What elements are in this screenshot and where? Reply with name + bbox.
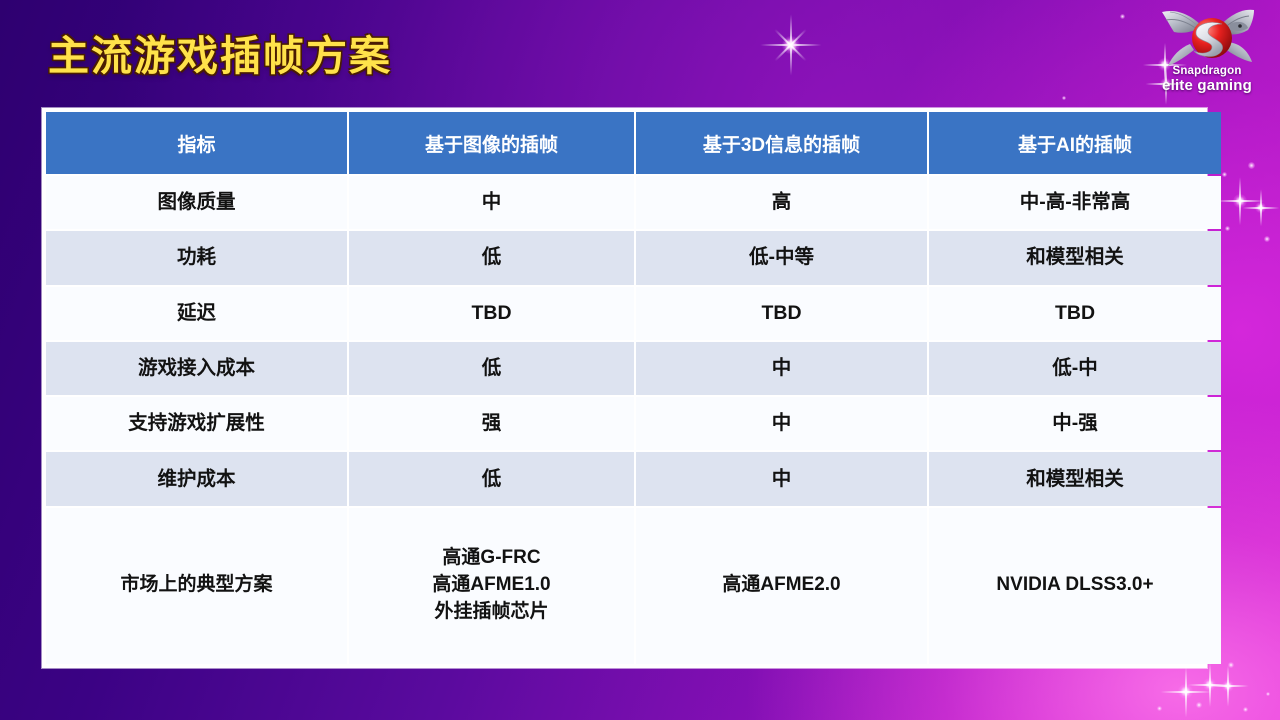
sparkle-icon: [782, 36, 800, 54]
table-row: 功耗低低-中等和模型相关: [46, 231, 1221, 284]
sparkle-icon: [1203, 678, 1216, 691]
cell-3d-based: 中: [636, 452, 927, 505]
sparkle-dot-icon: [1157, 706, 1162, 711]
table-body: 图像质量中高中-高-非常高功耗低低-中等和模型相关延迟TBDTBDTBD游戏接入…: [46, 176, 1221, 664]
column-header-ai-based: 基于AI的插帧: [929, 112, 1221, 174]
logo-wordmark: Snapdragon elite gaming: [1142, 66, 1272, 93]
sparkle-dot-icon: [1228, 662, 1234, 668]
sparkle-icon: [1233, 194, 1247, 208]
comparison-table-container: 指标 基于图像的插帧 基于3D信息的插帧 基于AI的插帧 图像质量中高中-高-非…: [42, 108, 1207, 668]
cell-ai-based: 中-高-非常高: [929, 176, 1221, 229]
presentation-slide: 主流游戏插帧方案: [0, 0, 1280, 720]
sparkle-dot-icon: [1248, 162, 1255, 169]
cell-metric: 延迟: [46, 287, 347, 340]
table-row: 市场上的典型方案高通G-FRC高通AFME1.0外挂插帧芯片高通AFME2.0N…: [46, 508, 1221, 664]
column-header-3d-based: 基于3D信息的插帧: [636, 112, 927, 174]
cell-image-based: TBD: [349, 287, 634, 340]
sparkle-dot-icon: [1243, 707, 1248, 712]
snapdragon-dragon-icon: [1156, 2, 1260, 70]
sparkle-dot-icon: [1196, 702, 1202, 708]
cell-ai-based: 低-中: [929, 342, 1221, 395]
cell-image-based: 低: [349, 231, 634, 284]
table-row: 延迟TBDTBDTBD: [46, 287, 1221, 340]
sparkle-dot-icon: [1225, 226, 1230, 231]
cell-metric: 维护成本: [46, 452, 347, 505]
cell-metric: 市场上的典型方案: [46, 508, 347, 664]
sparkle-icon: [1255, 202, 1266, 213]
cell-3d-based: 高: [636, 176, 927, 229]
cell-ai-based: 中-强: [929, 397, 1221, 450]
column-header-image-based: 基于图像的插帧: [349, 112, 634, 174]
sparkle-icon: [1178, 684, 1193, 699]
sparkle-dot-icon: [1120, 14, 1125, 19]
cell-metric: 游戏接入成本: [46, 342, 347, 395]
cell-metric: 功耗: [46, 231, 347, 284]
sparkle-icon: [781, 35, 799, 53]
cell-ai-based: NVIDIA DLSS3.0+: [929, 508, 1221, 664]
table-row: 维护成本低中和模型相关: [46, 452, 1221, 505]
cell-ai-based: TBD: [929, 287, 1221, 340]
table-row: 图像质量中高中-高-非常高: [46, 176, 1221, 229]
cell-ai-based: 和模型相关: [929, 231, 1221, 284]
cell-metric: 图像质量: [46, 176, 347, 229]
table-row: 游戏接入成本低中低-中: [46, 342, 1221, 395]
cell-image-based: 中: [349, 176, 634, 229]
cell-image-based: 低: [349, 342, 634, 395]
snapdragon-elite-gaming-logo: Snapdragon elite gaming: [1142, 2, 1272, 102]
cell-image-based: 强: [349, 397, 634, 450]
cell-metric: 支持游戏扩展性: [46, 397, 347, 450]
sparkle-dot-icon: [1264, 236, 1270, 242]
cell-3d-based: 中: [636, 342, 927, 395]
cell-ai-based: 和模型相关: [929, 452, 1221, 505]
comparison-table: 指标 基于图像的插帧 基于3D信息的插帧 基于AI的插帧 图像质量中高中-高-非…: [44, 110, 1223, 666]
table-row: 支持游戏扩展性强中中-强: [46, 397, 1221, 450]
sparkle-icon: [1222, 680, 1234, 692]
table-header-row: 指标 基于图像的插帧 基于3D信息的插帧 基于AI的插帧: [46, 112, 1221, 174]
sparkle-dot-icon: [1062, 96, 1066, 100]
cell-image-based: 低: [349, 452, 634, 505]
page-title: 主流游戏插帧方案: [48, 22, 392, 82]
cell-3d-based: 高通AFME2.0: [636, 508, 927, 664]
cell-3d-based: 中: [636, 397, 927, 450]
logo-line-1: Snapdragon: [1142, 66, 1272, 78]
column-header-metric: 指标: [46, 112, 347, 174]
logo-line-2: elite gaming: [1142, 78, 1272, 93]
sparkle-dot-icon: [1266, 692, 1270, 696]
cell-3d-based: 低-中等: [636, 231, 927, 284]
cell-image-based: 高通G-FRC高通AFME1.0外挂插帧芯片: [349, 508, 634, 664]
cell-3d-based: TBD: [636, 287, 927, 340]
